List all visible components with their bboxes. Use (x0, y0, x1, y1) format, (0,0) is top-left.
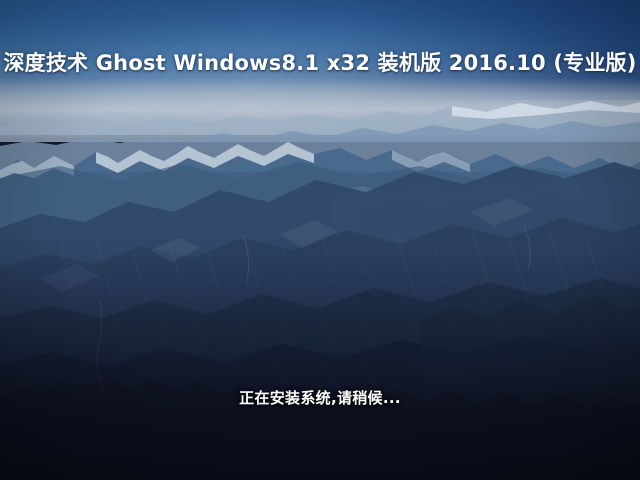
installer-splash-screen: 深度技术 Ghost Windows8.1 x32 装机版 2016.10 (专… (0, 0, 640, 480)
mountain-slopes-near (0, 150, 640, 480)
install-status-message: 正在安装系统,请稍候... (239, 387, 401, 408)
status-banner: 正在安装系统,请稍候... (0, 387, 640, 408)
page-title: 深度技术 Ghost Windows8.1 x32 装机版 2016.10 (专… (3, 47, 636, 77)
title-banner: 深度技术 Ghost Windows8.1 x32 装机版 2016.10 (专… (0, 47, 640, 77)
